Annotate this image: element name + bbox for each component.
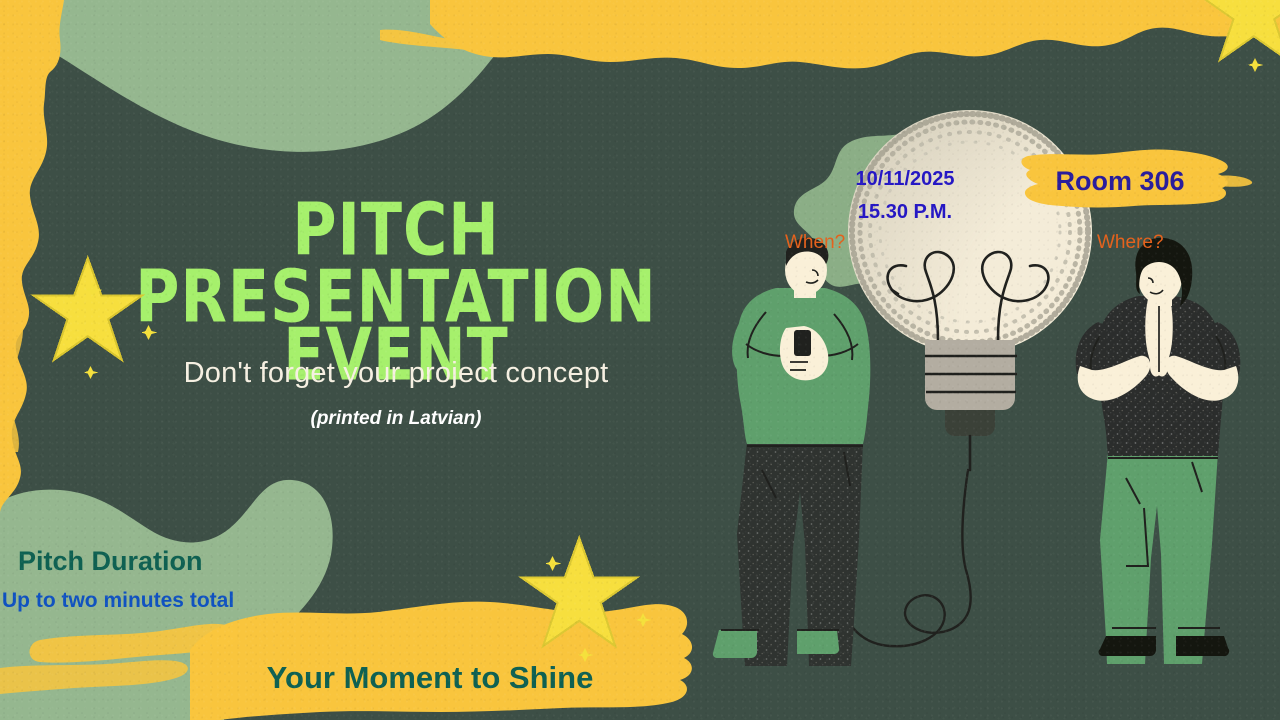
subnote-text: (printed in Latvian) (66, 408, 726, 430)
right-person-shoe-l (1099, 636, 1156, 656)
brush-top-right-tail (1186, 12, 1274, 30)
sparkle-icon-bottom-a (545, 556, 562, 571)
event-datetime: 10/11/2025 15.30 P.M. (840, 163, 970, 229)
pixel-star-top-right (1199, 0, 1280, 60)
duration-detail: Up to two minutes total (2, 589, 234, 613)
left-person-shoe-r (797, 630, 839, 654)
brush-top-left-wisp (2, 274, 23, 452)
sparkle-icon-top-right (1248, 58, 1263, 72)
left-person-shoe-l (713, 630, 757, 658)
bulb-contact (945, 410, 995, 436)
brush-room-banner-wisp (1216, 175, 1252, 186)
person-praying-icon (1076, 238, 1241, 664)
event-room: Room 306 (1030, 166, 1210, 197)
tagline-text: Your Moment to Shine (170, 660, 690, 696)
person-standing-icon (713, 238, 870, 666)
pixel-star-bottom (522, 538, 637, 646)
duration-title: Pitch Duration (18, 546, 203, 577)
brush-top-center-wisp (380, 30, 498, 52)
poster-canvas: PITCH PRESENTATION EVENT Don't forget yo… (0, 0, 1280, 720)
brush-bottom-left-wisp2 (0, 660, 188, 694)
page-title: PITCH PRESENTATION EVENT (66, 196, 726, 383)
brush-bottom-left-wisp (30, 624, 239, 663)
hand-cord (806, 352, 971, 646)
sparkle-icon-bottom-b (636, 613, 651, 627)
right-person-shoe-r (1176, 636, 1229, 656)
brush-top-center (430, 0, 1280, 68)
event-date: 10/11/2025 (840, 163, 970, 196)
brush-top-left (0, 0, 64, 512)
right-person-hands (1145, 282, 1168, 376)
when-label: When? (785, 232, 845, 254)
event-time: 15.30 P.M. (840, 196, 970, 229)
left-person-hands (780, 326, 828, 380)
where-label: Where? (1097, 232, 1164, 254)
subtitle-text: Don't forget your project concept (66, 357, 726, 390)
title-line-1: PITCH PRESENTATION (66, 196, 726, 331)
bulb-base (925, 340, 1015, 410)
sage-blob-top (0, 0, 740, 152)
